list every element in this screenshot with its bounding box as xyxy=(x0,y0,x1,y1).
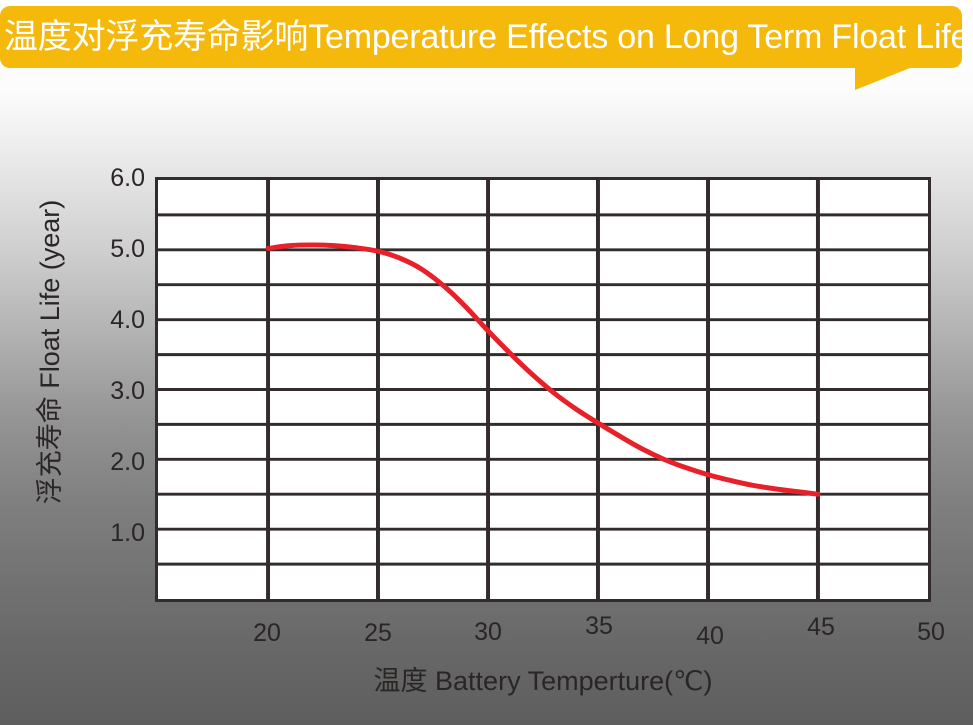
y-axis-title: 浮充寿命 Float Life (year) xyxy=(35,142,65,562)
float-life-chart: 6.0 5.0 4.0 3.0 2.0 1.0 20 25 30 35 40 4… xyxy=(0,0,973,725)
x-tick-45: 45 xyxy=(791,615,851,640)
title-banner: 温度对浮充寿命影响Temperature Effects on Long Ter… xyxy=(0,6,962,68)
x-axis-tick-labels: 20 25 30 35 40 45 50 xyxy=(0,0,973,725)
x-tick-30: 30 xyxy=(458,620,518,645)
x-tick-35: 35 xyxy=(569,614,629,639)
chart-page: 温度对浮充寿命影响Temperature Effects on Long Ter… xyxy=(0,0,973,725)
x-tick-25: 25 xyxy=(348,621,408,646)
x-tick-20: 20 xyxy=(237,621,297,646)
x-axis-title: 温度 Battery Temperture(℃) xyxy=(155,666,931,696)
x-tick-40: 40 xyxy=(680,624,740,649)
title-banner-tail xyxy=(855,66,915,90)
x-tick-50: 50 xyxy=(901,620,961,645)
page-title: 温度对浮充寿命影响Temperature Effects on Long Ter… xyxy=(4,19,969,55)
